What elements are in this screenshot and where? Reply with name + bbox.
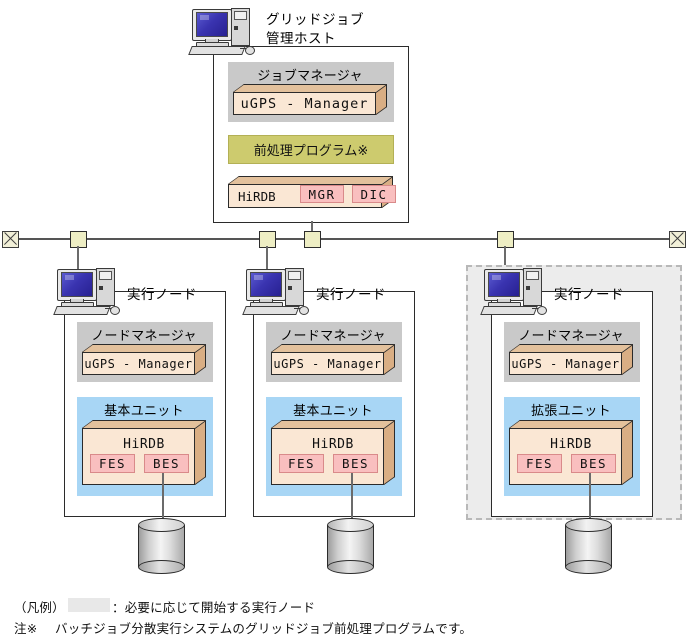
legend-prefix: （凡例） [14,597,65,616]
node-2-db-link [351,473,353,521]
manager-host-pc-icon [190,8,252,54]
manager-host-label-line1: グリッドジョブ [266,8,364,28]
node-2-ugps-box: uGPS - Manager [271,344,395,375]
manager-host-label-line2: 管理ホスト [266,27,336,47]
node-2-chip-bes: BES [333,454,378,473]
node-2-pc-icon [244,268,306,314]
bus-terminator-left-icon [2,231,19,248]
job-manager-ugps-box: uGPS - Manager [233,84,387,115]
node-1-database-icon [138,518,185,574]
node-2-unit-title: 基本ユニット [266,400,400,419]
legend-swatch [68,598,110,612]
node-2-ugps-label: uGPS - Manager [273,357,381,371]
node-3-manager-title: ノードマネージャ [504,325,638,344]
manager-hirdb-chip-dic: DIC [352,185,396,203]
node-2-chip-fes: FES [279,454,324,473]
bus-terminator-right-icon [669,231,686,248]
note-text: バッチジョブ分散実行システムのグリッドジョブ前処理プログラムです。 [55,618,472,637]
note-marker: 注※ [14,618,37,637]
network-bus-line [9,238,677,240]
node-3-chip-fes: FES [517,454,562,473]
node-2-hirdb-box: HiRDB FES BES [271,420,395,485]
node-2-database-icon [327,518,374,574]
node-3-chip-bes: BES [571,454,616,473]
bus-tap-icon-3 [304,231,321,248]
node-3-label: 実行ノード [554,283,624,303]
node-2-hirdb-label: HiRDB [271,437,395,452]
node-3-database-icon [565,518,612,574]
node-3-hirdb-box: HiRDB FES BES [509,420,633,485]
node-2-label: 実行ノード [316,283,386,303]
node-1-hirdb-box: HiRDB FES BES [82,420,206,485]
node-1-ugps-box: uGPS - Manager [82,344,206,375]
node-3-ugps-box: uGPS - Manager [509,344,633,375]
node-1-label: 実行ノード [127,283,197,303]
node-1-chip-bes: BES [144,454,189,473]
node-1-pc-icon [55,268,117,314]
node-1-unit-title: 基本ユニット [77,400,211,419]
node-3-unit-title: 拡張ユニット [504,400,638,419]
node-1-db-link [162,473,164,521]
node-3-pc-icon [482,268,544,314]
job-manager-ugps-label: uGPS - Manager [241,96,369,112]
manager-hirdb-box: HiRDB MGR DIC [228,176,393,208]
preprocess-program-label: 前処理プログラム※ [254,140,369,159]
node-3-db-link [589,473,591,521]
node-1-ugps-label: uGPS - Manager [84,357,192,371]
node-1-manager-title: ノードマネージャ [77,325,211,344]
node-3-hirdb-label: HiRDB [509,437,633,452]
node-2-manager-title: ノードマネージャ [266,325,400,344]
legend-description: ：必要に応じて開始する実行ノード [112,597,315,616]
preprocess-program-box: 前処理プログラム※ [228,135,394,164]
manager-hirdb-chip-mgr: MGR [300,185,344,203]
node-1-chip-fes: FES [90,454,135,473]
node-1-hirdb-label: HiRDB [82,437,206,452]
manager-hirdb-label: HiRDB [238,189,276,204]
node-3-ugps-label: uGPS - Manager [511,357,619,371]
job-manager-title: ジョブマネージャ [228,65,392,84]
